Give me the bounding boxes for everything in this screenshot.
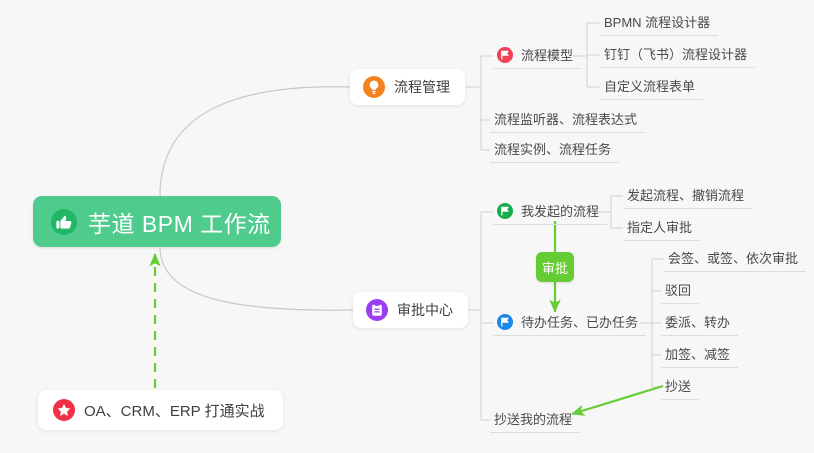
root-node[interactable]: 芋道 BPM 工作流 xyxy=(33,196,281,247)
wire-root-to-process xyxy=(160,87,350,196)
branch-integration[interactable]: OA、CRM、ERP 打通实战 xyxy=(38,390,283,430)
node-custom-form-label: 自定义流程表单 xyxy=(604,76,695,95)
node-bpmn-designer-label: BPMN 流程设计器 xyxy=(604,12,710,31)
star-icon xyxy=(53,399,75,421)
node-countersign-label: 会签、或签、依次审批 xyxy=(668,248,798,267)
node-carbon-copy-label: 抄送 xyxy=(665,376,691,395)
node-cc-to-me-label: 抄送我的流程 xyxy=(494,409,572,428)
wire-root-to-approval xyxy=(160,247,353,310)
branch-integration-label: OA、CRM、ERP 打通实战 xyxy=(84,400,265,421)
root-label: 芋道 BPM 工作流 xyxy=(88,205,271,239)
clipboard-icon xyxy=(366,299,388,321)
node-process-model-label: 流程模型 xyxy=(521,45,573,64)
node-cc-to-me[interactable]: 抄送我的流程 xyxy=(490,407,580,433)
node-process-listener-label: 流程监听器、流程表达式 xyxy=(494,109,637,128)
branch-process-management-label: 流程管理 xyxy=(394,77,450,97)
node-process-model[interactable]: 流程模型 xyxy=(493,43,581,69)
arrow-cc-to-ccmine xyxy=(572,386,663,414)
node-process-instance-label: 流程实例、流程任务 xyxy=(494,139,611,158)
node-add-remove-sign[interactable]: 加签、减签 xyxy=(661,342,738,368)
node-delegate-transfer[interactable]: 委派、转办 xyxy=(661,310,738,336)
thumbs-up-icon xyxy=(51,209,77,235)
node-countersign[interactable]: 会签、或签、依次审批 xyxy=(664,246,806,272)
node-assign-approver[interactable]: 指定人审批 xyxy=(623,215,700,241)
flag-icon xyxy=(497,47,513,63)
node-carbon-copy[interactable]: 抄送 xyxy=(661,374,699,400)
node-bpmn-designer[interactable]: BPMN 流程设计器 xyxy=(600,10,718,36)
flag-icon xyxy=(497,203,513,219)
node-process-instance[interactable]: 流程实例、流程任务 xyxy=(490,137,619,163)
node-custom-form[interactable]: 自定义流程表单 xyxy=(600,74,703,100)
node-reject[interactable]: 驳回 xyxy=(661,278,699,304)
flag-icon xyxy=(497,314,513,330)
branch-approval-center[interactable]: 审批中心 xyxy=(353,292,468,328)
node-add-remove-sign-label: 加签、减签 xyxy=(665,344,730,363)
node-assign-approver-label: 指定人审批 xyxy=(627,217,692,236)
node-process-listener[interactable]: 流程监听器、流程表达式 xyxy=(490,107,645,133)
node-start-cancel-process[interactable]: 发起流程、撤销流程 xyxy=(623,183,752,209)
node-my-initiated[interactable]: 我发起的流程 xyxy=(493,199,607,225)
mindmap-canvas: 芋道 BPM 工作流 流程管理 审批中心 xyxy=(0,0,814,453)
node-reject-label: 驳回 xyxy=(665,280,691,299)
node-start-cancel-process-label: 发起流程、撤销流程 xyxy=(627,185,744,204)
node-dingtalk-designer[interactable]: 钉钉（飞书）流程设计器 xyxy=(600,42,755,68)
lightbulb-icon xyxy=(363,76,385,98)
node-dingtalk-designer-label: 钉钉（飞书）流程设计器 xyxy=(604,44,747,63)
annotation-approve-text: 审批 xyxy=(542,258,568,277)
annotation-approve-label: 审批 xyxy=(536,252,574,282)
node-todo-done-tasks[interactable]: 待办任务、已办任务 xyxy=(493,310,646,336)
node-my-initiated-label: 我发起的流程 xyxy=(521,201,599,220)
node-delegate-transfer-label: 委派、转办 xyxy=(665,312,730,331)
branch-approval-center-label: 审批中心 xyxy=(397,300,453,320)
branch-process-management[interactable]: 流程管理 xyxy=(350,69,465,105)
node-todo-done-tasks-label: 待办任务、已办任务 xyxy=(521,312,638,331)
